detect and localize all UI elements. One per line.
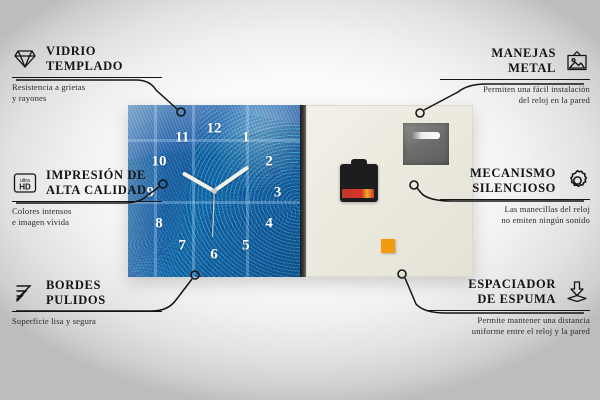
feature-desc-line2: no emiten ningún sonido xyxy=(501,215,590,225)
clock-numeral-7: 7 xyxy=(178,239,186,254)
mechanism-knob xyxy=(351,159,366,166)
feature-desc-line2: y rayones xyxy=(12,93,47,103)
polished-edges-icon xyxy=(12,280,38,306)
clock-numeral-5: 5 xyxy=(242,239,250,254)
gear-icon xyxy=(564,168,590,194)
feature-mecanismo-silencioso: MECANISMO SILENCIOSO Las manecillas del … xyxy=(440,166,590,227)
feature-title-line1: MANEJAS xyxy=(491,46,556,60)
feature-title-line2: TEMPLADO xyxy=(46,59,123,73)
clock-numeral-12: 12 xyxy=(207,122,222,137)
feature-title-line2: DE ESPUMA xyxy=(477,292,556,306)
feature-title: BORDES PULIDOS xyxy=(46,278,106,308)
feature-desc-line2: del reloj en la pared xyxy=(519,95,590,105)
feature-title-line2: PULIDOS xyxy=(46,293,106,307)
feature-divider xyxy=(12,311,162,312)
clock-numeral-4: 4 xyxy=(265,216,273,231)
clock-numeral-2: 2 xyxy=(265,154,273,169)
picture-frame-hanger-icon xyxy=(564,48,590,74)
feature-divider xyxy=(12,201,162,202)
feature-header: MANEJAS METAL xyxy=(440,46,590,76)
feature-title: MECANISMO SILENCIOSO xyxy=(470,166,556,196)
feature-title: VIDRIO TEMPLADO xyxy=(46,44,123,74)
feature-title: ESPACIADOR DE ESPUMA xyxy=(468,277,556,307)
feature-desc-line2: e imagen vívida xyxy=(12,217,69,227)
battery xyxy=(342,189,374,198)
feature-header: MECANISMO SILENCIOSO xyxy=(440,166,590,196)
product-image: 12 1 2 3 4 5 6 7 8 9 10 11 xyxy=(128,105,473,277)
feature-title-line1: MECANISMO xyxy=(470,166,556,180)
quartz-mechanism-box xyxy=(340,164,378,202)
feature-desc-line1: Permiten una fácil instalación xyxy=(483,84,590,94)
feature-header: ultra HD IMPRESIÓN DE ALTA CALIDAD xyxy=(12,168,162,198)
feature-header: BORDES PULIDOS xyxy=(12,278,162,308)
feature-description: Resistencia a grietas y rayones xyxy=(12,82,162,105)
feature-divider xyxy=(425,310,590,311)
feature-divider xyxy=(12,77,162,78)
feature-desc-line1: Permite mantener una distancia xyxy=(477,315,590,325)
infographic-canvas: 12 1 2 3 4 5 6 7 8 9 10 11 xyxy=(0,0,600,400)
feature-divider xyxy=(440,199,590,200)
feature-title-line1: VIDRIO xyxy=(46,44,96,58)
clock-numeral-6: 6 xyxy=(210,247,218,262)
feature-title-line1: IMPRESIÓN DE xyxy=(46,168,146,182)
hanger-slot xyxy=(411,132,440,139)
feature-title: IMPRESIÓN DE ALTA CALIDAD xyxy=(46,168,147,198)
feature-manejas-metal: MANEJAS METAL Permiten una fácil instala… xyxy=(440,46,590,107)
foam-spacer-arrow-icon xyxy=(564,279,590,305)
metal-hanger-plate xyxy=(403,123,449,165)
feature-desc-line1: Las manecillas del reloj xyxy=(505,204,590,214)
feature-description: Las manecillas del reloj no emiten ningú… xyxy=(440,204,590,227)
feature-description: Superficie lisa y segura xyxy=(12,316,162,328)
feature-desc-line1: Colores intensos xyxy=(12,206,71,216)
feature-title: MANEJAS METAL xyxy=(491,46,556,76)
feature-header: ESPACIADOR DE ESPUMA xyxy=(425,277,590,307)
feature-title-line1: BORDES xyxy=(46,278,101,292)
foam-spacer xyxy=(381,239,395,253)
feature-impresion-alta-calidad: ultra HD IMPRESIÓN DE ALTA CALIDAD Color… xyxy=(12,168,162,229)
feature-title-line1: ESPACIADOR xyxy=(468,277,556,291)
clock-numeral-11: 11 xyxy=(175,130,189,145)
feature-description: Permiten una fácil instalación del reloj… xyxy=(440,84,590,107)
feature-desc-line1: Superficie lisa y segura xyxy=(12,316,96,326)
clock-numeral-1: 1 xyxy=(242,130,250,145)
clock-numeral-10: 10 xyxy=(151,154,166,169)
ultra-hd-icon: ultra HD xyxy=(12,170,38,196)
feature-description: Permite mantener una distancia uniforme … xyxy=(425,315,590,338)
clock-numeral-3: 3 xyxy=(274,185,282,200)
clock-center-hub xyxy=(212,189,217,194)
feature-title-line2: ALTA CALIDAD xyxy=(46,183,147,197)
feature-description: Colores intensos e imagen vívida xyxy=(12,206,162,229)
feature-title-line2: SILENCIOSO xyxy=(472,181,556,195)
feature-title-line2: METAL xyxy=(508,61,556,75)
feature-bordes-pulidos: BORDES PULIDOS Superficie lisa y segura xyxy=(12,278,162,327)
feature-desc-line1: Resistencia a grietas xyxy=(12,82,85,92)
feature-espaciador-espuma: ESPACIADOR DE ESPUMA Permite mantener un… xyxy=(425,277,590,338)
feature-vidrio-templado: VIDRIO TEMPLADO Resistencia a grietas y … xyxy=(12,44,162,105)
diamond-icon xyxy=(12,46,38,72)
feature-divider xyxy=(440,79,590,80)
feature-header: VIDRIO TEMPLADO xyxy=(12,44,162,74)
feature-desc-line2: uniforme entre el reloj y la pared xyxy=(472,326,590,336)
svg-text:HD: HD xyxy=(19,182,31,191)
